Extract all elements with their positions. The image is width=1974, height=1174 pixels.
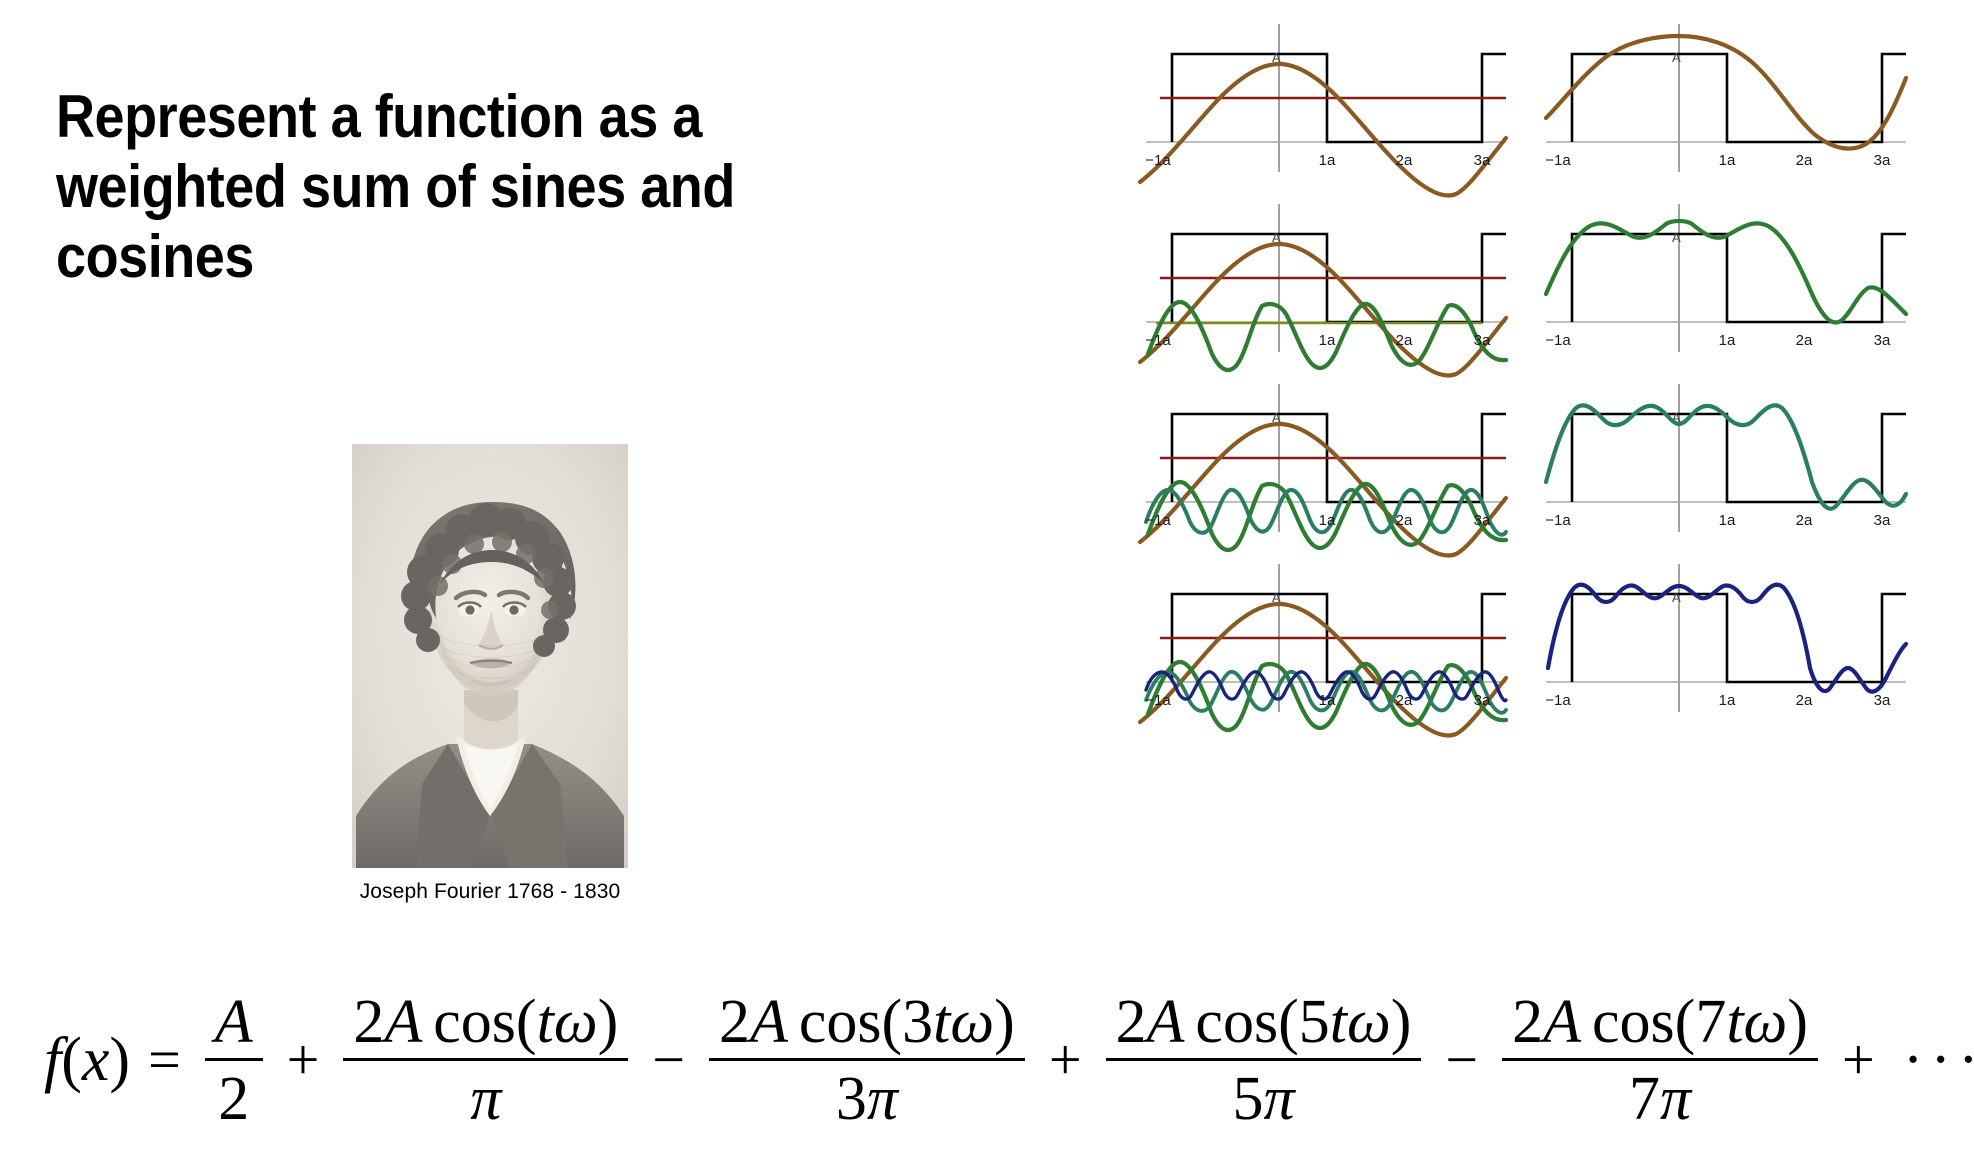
svg-text:−1a: −1a [1545,332,1571,349]
term2-t: t [933,991,950,1053]
term2-cos: cos [799,991,882,1053]
plot-r1-partial-sum: A −1a 1a 2a 3a [1546,22,1906,202]
svg-text:−1a: −1a [1145,332,1171,349]
formula-lparen: ( [61,1029,82,1091]
term3-cos: cos [1195,991,1278,1053]
page-title: Represent a function as a weighted sum o… [56,82,866,293]
formula-term-3: 2 A cos ( 5 t ω ) 5 π [1106,991,1422,1130]
svg-text:3a: 3a [1874,692,1891,709]
term4-den-pi: π [1660,1068,1691,1130]
term3-t: t [1330,991,1347,1053]
formula-term-4: 2 A cos ( 7 t ω ) 7 π [1502,991,1818,1130]
term2-rp: ) [994,991,1015,1053]
formula-lhs: f ( x ) [44,1029,130,1091]
term3-lp: ( [1278,991,1299,1053]
svg-text:3a: 3a [1474,152,1491,169]
formula-term-1: 2 A cos ( t ω ) π [343,991,628,1130]
svg-text:2a: 2a [1796,332,1813,349]
svg-text:1a: 1a [1319,692,1336,709]
term3-coef: 2 [1116,991,1147,1053]
plot-r3-partial-sum: A −1a 1a 2a 3a [1546,382,1906,562]
formula-equals: = [148,1031,181,1089]
svg-text:1a: 1a [1719,512,1736,529]
formula-ellipsis: ··· [1903,1025,1974,1096]
svg-text:1a: 1a [1719,152,1736,169]
plot-row-1: A −1a 1a 2a 3a A −1a 1a 2a 3a [1146,22,1946,202]
svg-text:A: A [1672,50,1681,65]
plot-r2-partial-sum: A −1a 1a 2a 3a [1546,202,1906,382]
term3-omega: ω [1347,991,1391,1053]
formula-x: x [82,1029,110,1091]
term1-rp: ) [598,991,619,1053]
term3-rp: ) [1391,991,1412,1053]
term2-k: 3 [902,991,933,1053]
plot-r4-harmonics: A −1a 1a 2a 3a [1146,562,1506,742]
svg-text:−1a: −1a [1545,152,1571,169]
formula-sign-5: + [1842,1031,1875,1089]
term1-omega: ω [554,991,598,1053]
svg-text:A: A [1672,590,1681,605]
svg-text:3a: 3a [1874,512,1891,529]
svg-text:−1a: −1a [1545,692,1571,709]
term4-k: 7 [1695,991,1726,1053]
term2-den-pi: π [867,1068,898,1130]
svg-text:−1a: −1a [1545,512,1571,529]
term1-den-pi: π [470,1068,501,1130]
svg-text:3a: 3a [1474,512,1491,529]
plot-r4-partial-sum: A −1a 1a 2a 3a [1546,562,1906,742]
term1-cos: cos [433,991,516,1053]
term3-A: A [1147,991,1185,1053]
formula-term-2: 2 A cos ( 3 t ω ) 3 π [709,991,1025,1130]
svg-text:1a: 1a [1319,332,1336,349]
plot-r1-harmonics: A −1a 1a 2a 3a [1146,22,1506,202]
svg-text:A: A [1672,230,1681,245]
svg-text:−1a: −1a [1145,692,1171,709]
svg-text:3a: 3a [1474,332,1491,349]
svg-text:2a: 2a [1396,692,1413,709]
term3-k: 5 [1299,991,1330,1053]
term4-lp: ( [1675,991,1696,1053]
svg-text:1a: 1a [1319,512,1336,529]
term4-cos: cos [1592,991,1675,1053]
term1-lp: ( [516,991,537,1053]
plot-row-4: A −1a 1a 2a 3a A −1a 1a 2a [1146,562,1946,742]
term2-omega: ω [950,991,994,1053]
plot-r3-harmonics: A −1a 1a 2a 3a [1146,382,1506,562]
svg-text:3a: 3a [1474,692,1491,709]
term1-A: A [384,991,422,1053]
svg-text:2a: 2a [1796,512,1813,529]
fourier-portrait-image [352,444,628,868]
svg-text:2a: 2a [1396,512,1413,529]
plot-row-3: A −1a 1a 2a 3a A −1a 1a 2a 3a [1146,382,1946,562]
term2-lp: ( [882,991,903,1053]
formula-term-0: A 2 [205,991,263,1130]
term4-t: t [1726,991,1743,1053]
svg-text:3a: 3a [1874,332,1891,349]
svg-text:2a: 2a [1396,152,1413,169]
plot-r2-harmonics: A −1a 1a 2a 3a [1146,202,1506,382]
svg-text:2a: 2a [1396,332,1413,349]
term4-coef: 2 [1512,991,1543,1053]
svg-text:1a: 1a [1719,692,1736,709]
term0-denominator: 2 [218,1068,249,1130]
term1-coef: 2 [353,991,384,1053]
fourier-series-formula: f ( x ) = A 2 + 2 A cos ( t ω ) π − 2 A … [44,985,1944,1135]
svg-text:1a: 1a [1319,152,1336,169]
formula-sign-1: + [287,1031,320,1089]
term2-coef: 2 [719,991,750,1053]
portrait-caption: Joseph Fourier 1768 - 1830 [352,880,628,904]
svg-text:1a: 1a [1719,332,1736,349]
fourier-series-chart: A −1a 1a 2a 3a A −1a 1a 2a 3a [1146,22,1946,782]
svg-text:−1a: −1a [1145,152,1171,169]
svg-text:2a: 2a [1796,692,1813,709]
plot-row-2: A −1a 1a 2a 3a A −1a 1a 2a 3a [1146,202,1946,382]
term2-den-k: 3 [836,1068,867,1130]
term4-A: A [1543,991,1581,1053]
formula-f: f [44,1029,61,1091]
term1-t: t [537,991,554,1053]
svg-text:−1a: −1a [1145,512,1171,529]
svg-text:3a: 3a [1874,152,1891,169]
svg-text:2a: 2a [1796,152,1813,169]
portrait-block: Joseph Fourier 1768 - 1830 [352,444,628,904]
term3-den-k: 5 [1232,1068,1263,1130]
formula-sign-2: − [652,1031,685,1089]
term3-den-pi: π [1263,1068,1294,1130]
formula-sign-3: + [1049,1031,1082,1089]
term0-numerator: A [215,991,253,1053]
formula-sign-4: − [1445,1031,1478,1089]
term2-A: A [750,991,788,1053]
formula-rparen: ) [109,1029,130,1091]
term4-omega: ω [1744,991,1788,1053]
term4-den-k: 7 [1629,1068,1660,1130]
term4-rp: ) [1787,991,1808,1053]
